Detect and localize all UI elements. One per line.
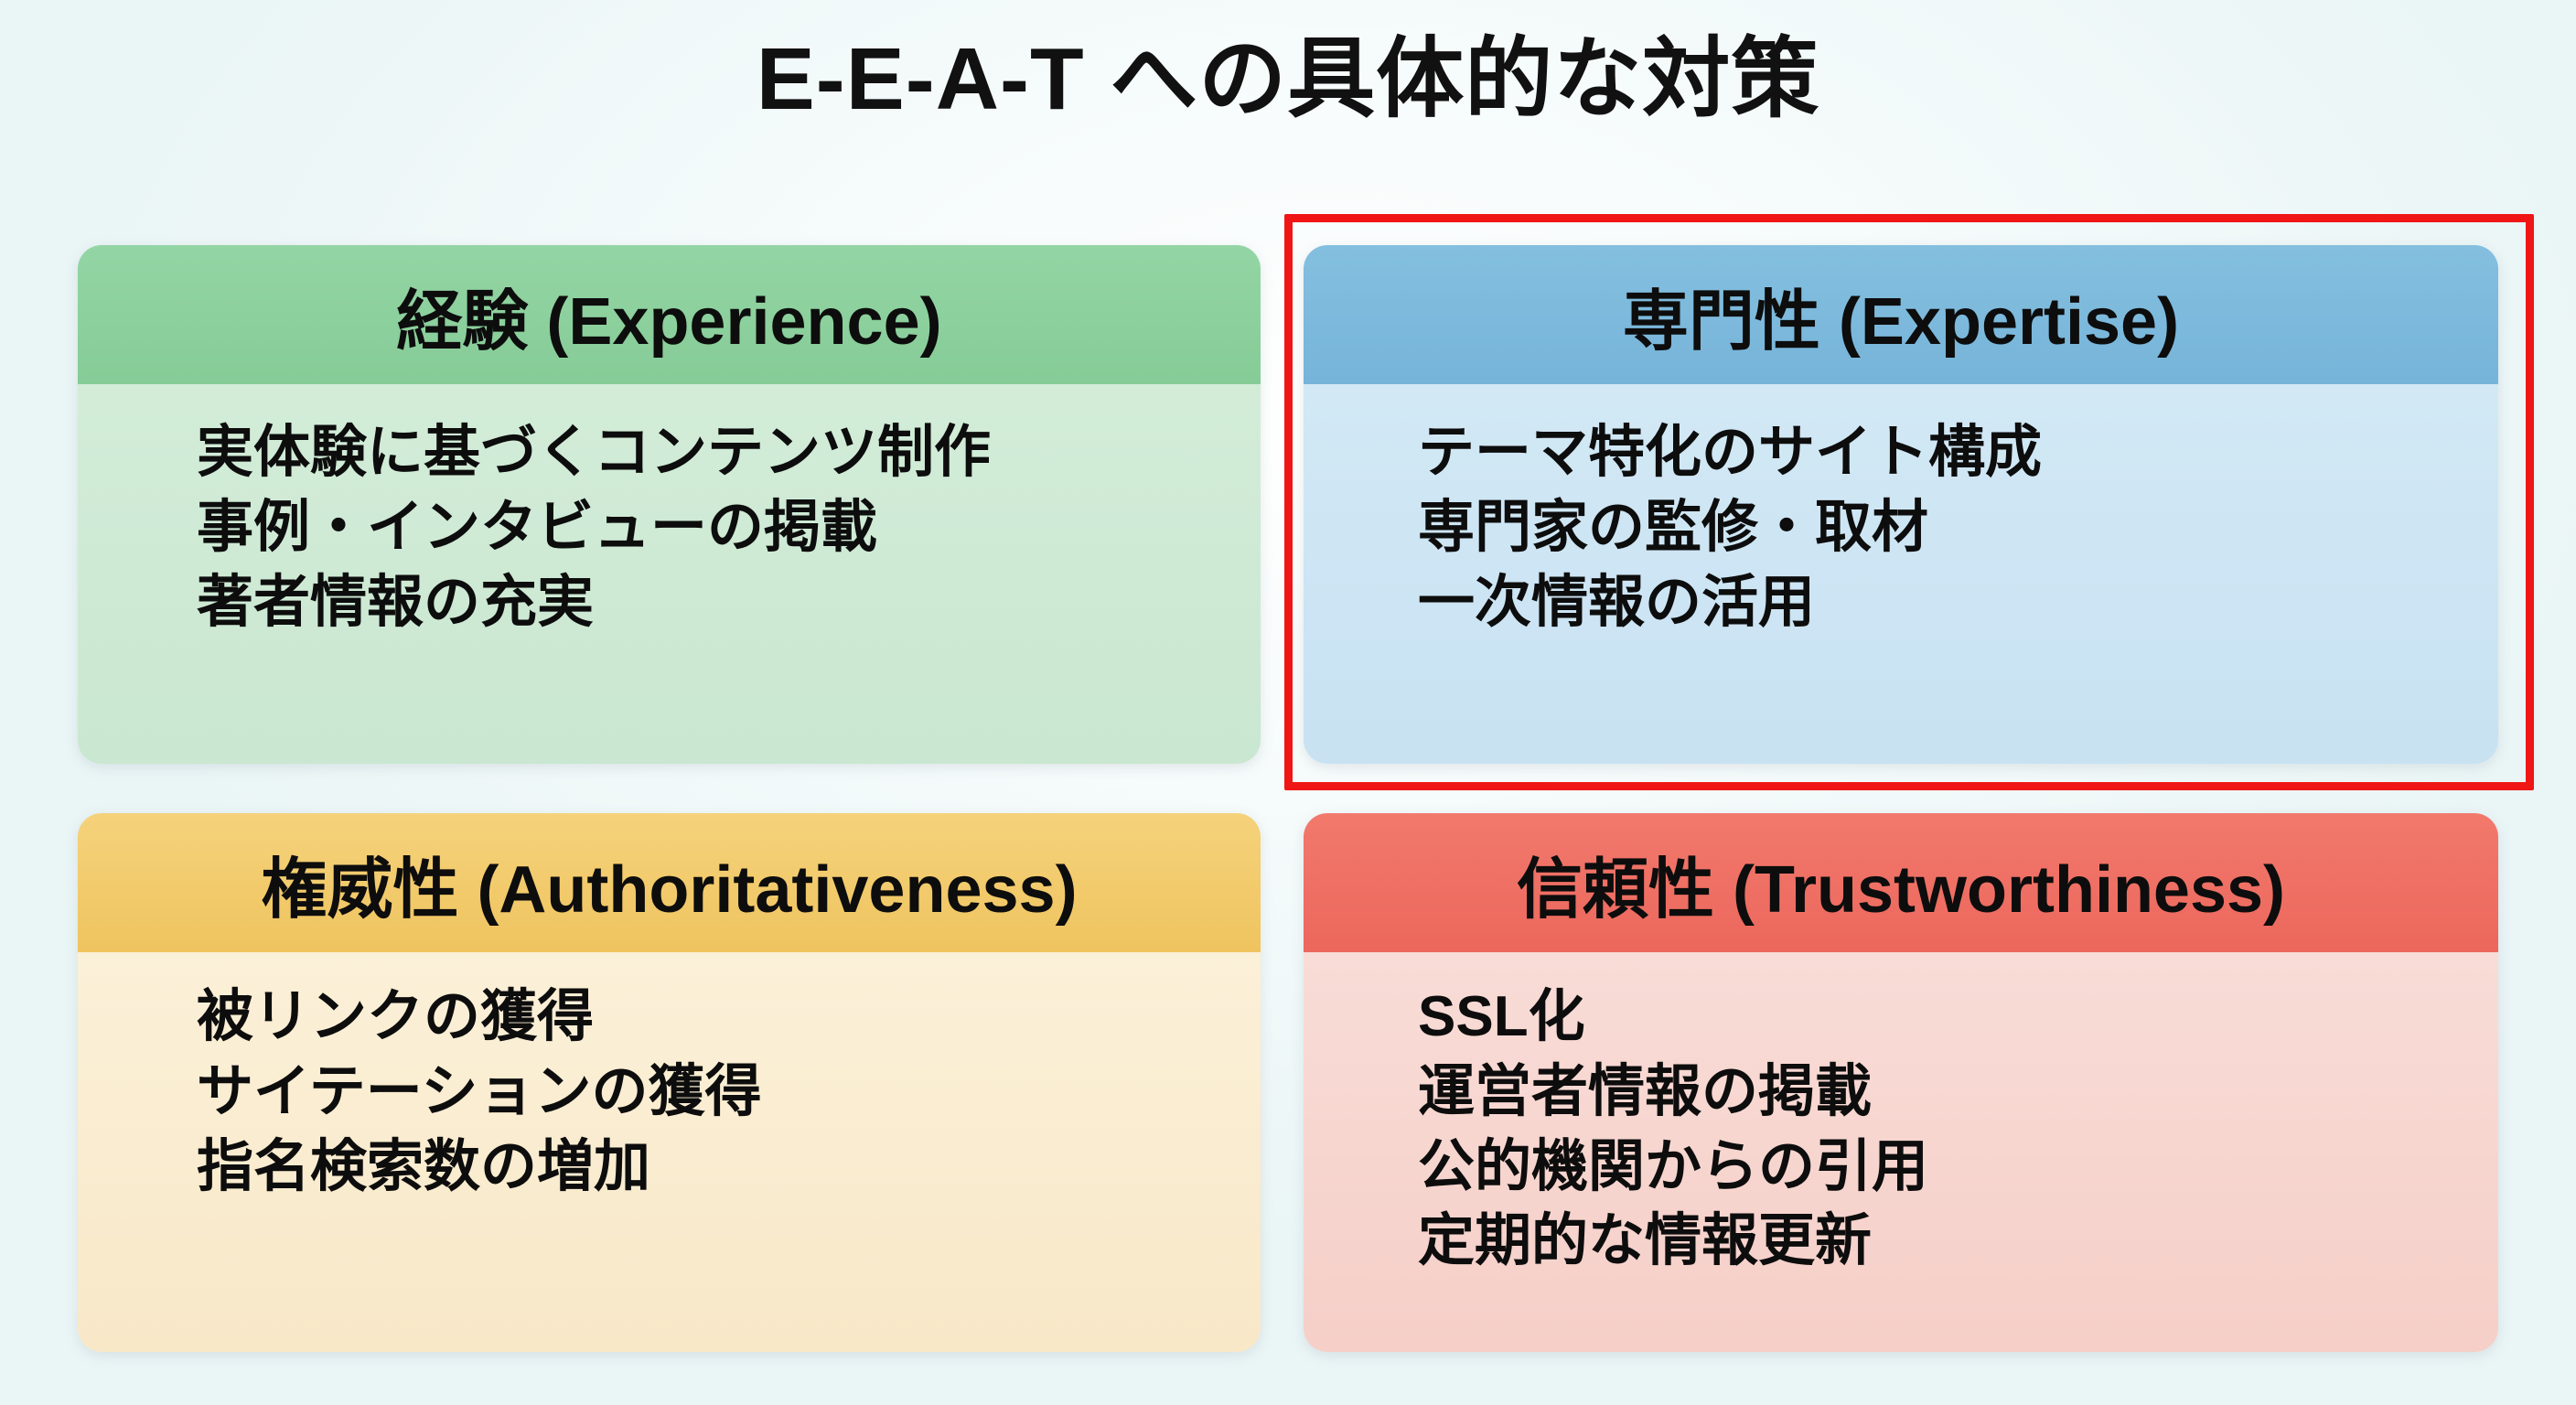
card-expertise-item-1: テーマ特化のサイト構成 [1418,415,2498,490]
card-authoritativeness-header: 権威性 (Authoritativeness) [78,813,1261,952]
card-expertise-header: 専門性 (Expertise) [1304,245,2498,384]
card-expertise-item-2: 専門家の監修・取材 [1418,490,2498,565]
card-authoritativeness-item-1: 被リンクの獲得 [197,980,1261,1055]
card-experience[interactable]: 経験 (Experience) 実体験に基づくコンテンツ制作 事例・インタビュー… [78,245,1261,764]
card-expertise-body: テーマ特化のサイト構成 専門家の監修・取材 一次情報の活用 [1304,384,2498,764]
card-authoritativeness[interactable]: 権威性 (Authoritativeness) 被リンクの獲得 サイテーションの… [78,813,1261,1352]
card-experience-header: 経験 (Experience) [78,245,1261,384]
slide-canvas: E-E-A-T への具体的な対策 経験 (Experience) 実体験に基づく… [0,0,2576,1405]
card-trustworthiness-header: 信頼性 (Trustworthiness) [1304,813,2498,952]
page-title: E-E-A-T への具体的な対策 [0,29,2576,130]
card-trustworthiness-body: SSL化 運営者情報の掲載 公的機関からの引用 定期的な情報更新 [1304,952,2498,1352]
card-experience-item-1: 実体験に基づくコンテンツ制作 [197,415,1261,490]
card-trustworthiness-item-2: 運営者情報の掲載 [1418,1055,2498,1130]
eeat-card-grid: 経験 (Experience) 実体験に基づくコンテンツ制作 事例・インタビュー… [78,245,2498,1352]
card-experience-body: 実体験に基づくコンテンツ制作 事例・インタビューの掲載 著者情報の充実 [78,384,1261,764]
card-trustworthiness-item-3: 公的機関からの引用 [1418,1130,2498,1205]
card-expertise-item-3: 一次情報の活用 [1418,565,2498,640]
card-trustworthiness-item-1: SSL化 [1418,980,2498,1055]
card-trustworthiness-item-4: 定期的な情報更新 [1418,1204,2498,1279]
card-trustworthiness[interactable]: 信頼性 (Trustworthiness) SSL化 運営者情報の掲載 公的機関… [1304,813,2498,1352]
card-expertise[interactable]: 専門性 (Expertise) テーマ特化のサイト構成 専門家の監修・取材 一次… [1304,245,2498,764]
card-experience-item-3: 著者情報の充実 [197,565,1261,640]
card-authoritativeness-body: 被リンクの獲得 サイテーションの獲得 指名検索数の増加 [78,952,1261,1352]
card-authoritativeness-item-2: サイテーションの獲得 [197,1055,1261,1130]
card-experience-item-2: 事例・インタビューの掲載 [197,490,1261,565]
card-authoritativeness-item-3: 指名検索数の増加 [197,1130,1261,1205]
